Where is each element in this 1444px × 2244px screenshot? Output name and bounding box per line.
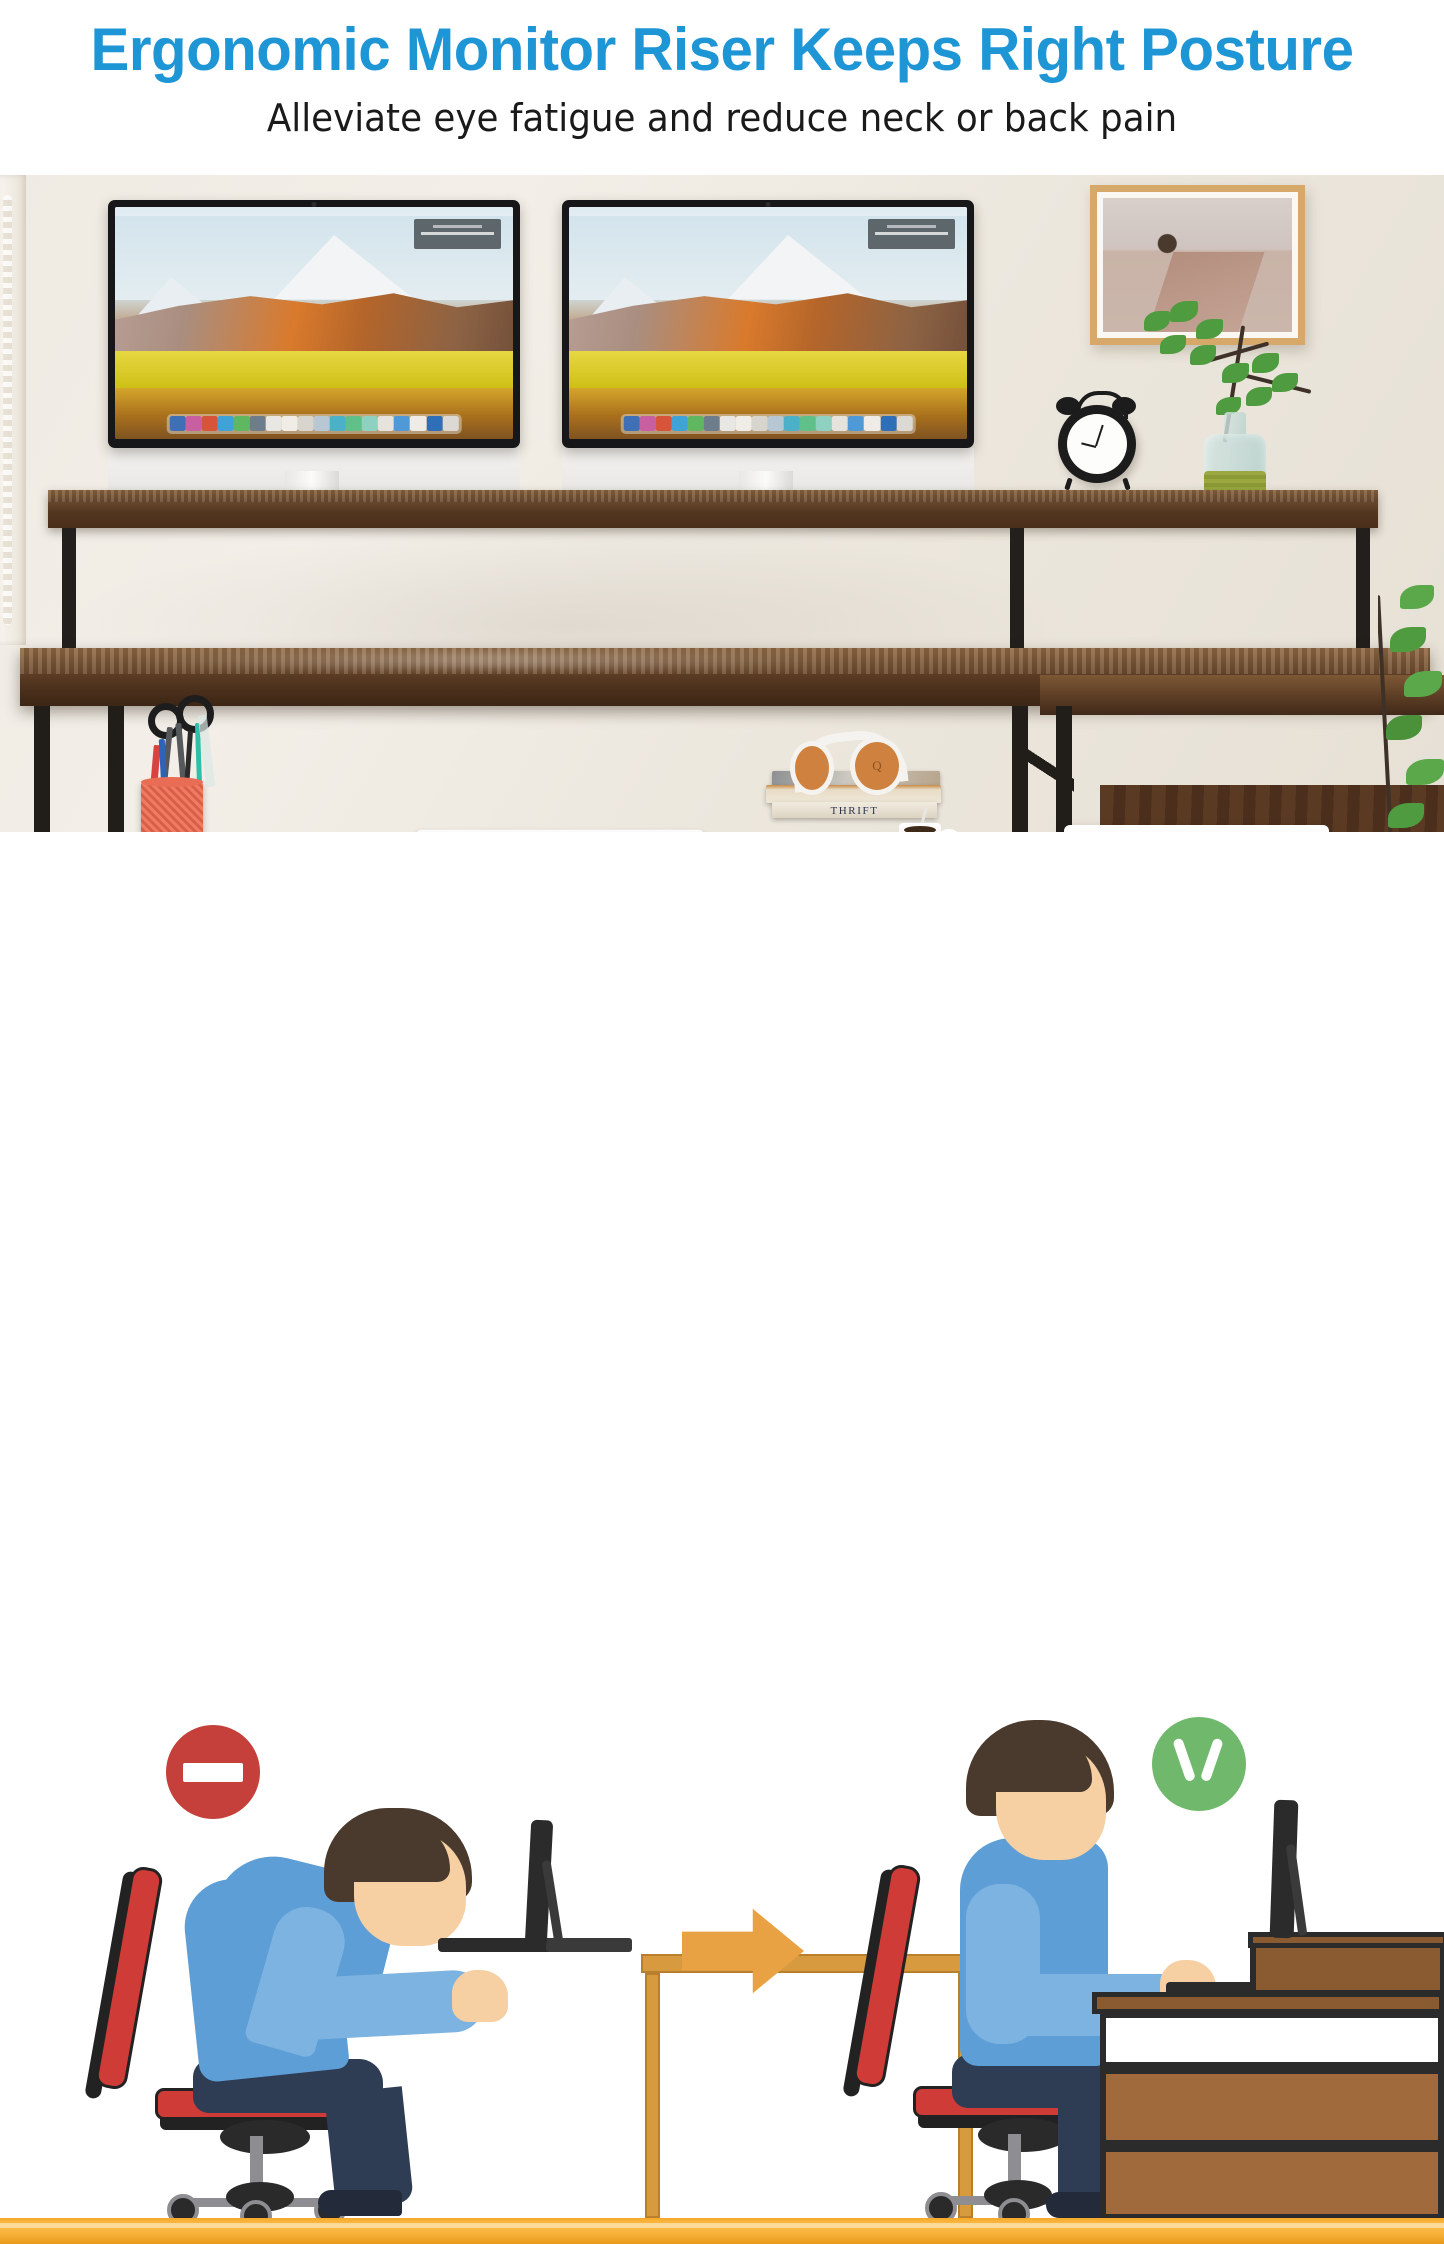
dock-icon-facetime[interactable] — [330, 416, 346, 431]
red-mesh-pen-holder — [141, 781, 203, 832]
lifestyle-photo: THRIFT — [0, 175, 1444, 832]
dock-icon-contacts[interactable] — [234, 416, 250, 431]
curtain — [0, 175, 26, 645]
dock-icon-photos[interactable] — [720, 416, 736, 431]
desk-leg-2 — [108, 706, 124, 832]
shoe-left-person — [318, 2190, 402, 2216]
dock-icon-appstore[interactable] — [394, 416, 410, 431]
dock-icon-calendar[interactable] — [800, 416, 816, 431]
dock-icon-preferences[interactable] — [410, 416, 426, 431]
monitor-bezel — [108, 200, 520, 448]
dock-icon-notes[interactable] — [704, 416, 720, 431]
dock-icon-notes[interactable] — [250, 416, 266, 431]
imac-monitor-left — [108, 200, 520, 480]
dock-icon-calendar[interactable] — [346, 416, 362, 431]
cabinet-gap-right — [1100, 2012, 1444, 2068]
wallpaper-peak — [274, 235, 414, 299]
right-arrow-icon — [682, 1907, 804, 1995]
dock-icon-trash[interactable] — [442, 416, 458, 431]
dock — [621, 414, 916, 435]
dock-icon-mail[interactable] — [218, 416, 234, 431]
dock-icon-messages[interactable] — [768, 416, 784, 431]
desktop-widget — [868, 219, 956, 249]
imac-monitor-right — [562, 200, 974, 480]
desktop-widget — [414, 219, 502, 249]
cabinet-drawer-lower — [1100, 2146, 1444, 2220]
desk-leg-wrong-front — [645, 1973, 660, 2218]
dock-icon-messages[interactable] — [314, 416, 330, 431]
dock-icon-music[interactable] — [832, 416, 848, 431]
monitor-riser-right — [1250, 1942, 1444, 1996]
header-band: Ergonomic Monitor Riser Keeps Right Post… — [0, 0, 1444, 175]
monitor-screen — [569, 207, 967, 439]
headphone-earcup-left — [790, 741, 834, 795]
coffee-cup — [899, 823, 941, 832]
plant-leaf — [1400, 585, 1434, 609]
dock-icon-safari[interactable] — [202, 416, 218, 431]
dock — [167, 414, 462, 435]
headphone-earcup-right — [850, 737, 904, 795]
menu-bar — [115, 207, 513, 216]
dock-icon-finder[interactable] — [170, 416, 186, 431]
cabinet-drawer-upper — [1100, 2068, 1444, 2146]
page-subtitle: Alleviate eye fatigue and reduce neck or… — [43, 98, 1400, 140]
wallpaper-peak — [728, 235, 868, 299]
desk-brace — [1014, 706, 1074, 826]
page-title: Ergonomic Monitor Riser Keeps Right Post… — [22, 18, 1423, 81]
dock-icon-reminders[interactable] — [362, 416, 378, 431]
wallpaper-field — [569, 351, 967, 388]
dock-icon-contacts[interactable] — [688, 416, 704, 431]
product-marketing-page: Ergonomic Monitor Riser Keeps Right Post… — [0, 0, 1444, 1444]
dock-icon-maps[interactable] — [736, 416, 752, 431]
clock-face — [1067, 414, 1127, 474]
plant-leaf — [1388, 803, 1424, 828]
menu-bar — [569, 207, 967, 216]
check-v-icon — [1152, 1717, 1246, 1811]
riser-leg-left — [62, 528, 76, 660]
dock-icon-trash[interactable] — [896, 416, 912, 431]
dock-icon-launchpad[interactable] — [640, 416, 656, 431]
dock-icon-safari[interactable] — [656, 416, 672, 431]
plant-leaf — [1390, 627, 1426, 652]
dock-icon-mail[interactable] — [672, 416, 688, 431]
dock-icon-reminders[interactable] — [816, 416, 832, 431]
dock-icon-appstore[interactable] — [848, 416, 864, 431]
art-mat — [1097, 192, 1298, 338]
dock-icon-maps[interactable] — [282, 416, 298, 431]
monitor-screen — [115, 207, 513, 439]
potted-plant — [1378, 575, 1444, 832]
book-title: THRIFT — [772, 805, 937, 817]
book-middle — [766, 785, 941, 803]
monitor-riser-shelf — [48, 490, 1378, 528]
wallpaper-field — [115, 351, 513, 388]
dock-icon-pages[interactable] — [298, 416, 314, 431]
dock-icon-finder-2[interactable] — [426, 416, 442, 431]
desk-leg-1 — [34, 706, 50, 832]
plant-leaf — [1404, 671, 1442, 697]
no-entry-icon — [166, 1725, 260, 1819]
plant-leaf — [1386, 715, 1422, 740]
dock-icon-facetime[interactable] — [784, 416, 800, 431]
dock-icon-photos[interactable] — [266, 416, 282, 431]
framed-wall-art — [1090, 185, 1305, 345]
epson-printer: EPSON — [1064, 825, 1329, 832]
posture-comparison-illustration — [0, 832, 1444, 1444]
dock-icon-preferences[interactable] — [864, 416, 880, 431]
chair-seat-hub-right — [978, 2118, 1068, 2152]
dock-icon-finder-2[interactable] — [880, 416, 896, 431]
chair-seat-hub-left — [220, 2120, 310, 2154]
floor-highlight — [0, 2223, 1444, 2228]
floor-strip — [0, 2218, 1444, 2244]
dock-icon-music[interactable] — [378, 416, 394, 431]
plant-leaf — [1406, 759, 1444, 785]
dock-icon-pages[interactable] — [752, 416, 768, 431]
dock-icon-finder[interactable] — [624, 416, 640, 431]
monitor-bezel — [562, 200, 974, 448]
riser-leg-right — [1010, 528, 1024, 660]
dock-icon-launchpad[interactable] — [186, 416, 202, 431]
hand-left-person — [452, 1970, 508, 2022]
